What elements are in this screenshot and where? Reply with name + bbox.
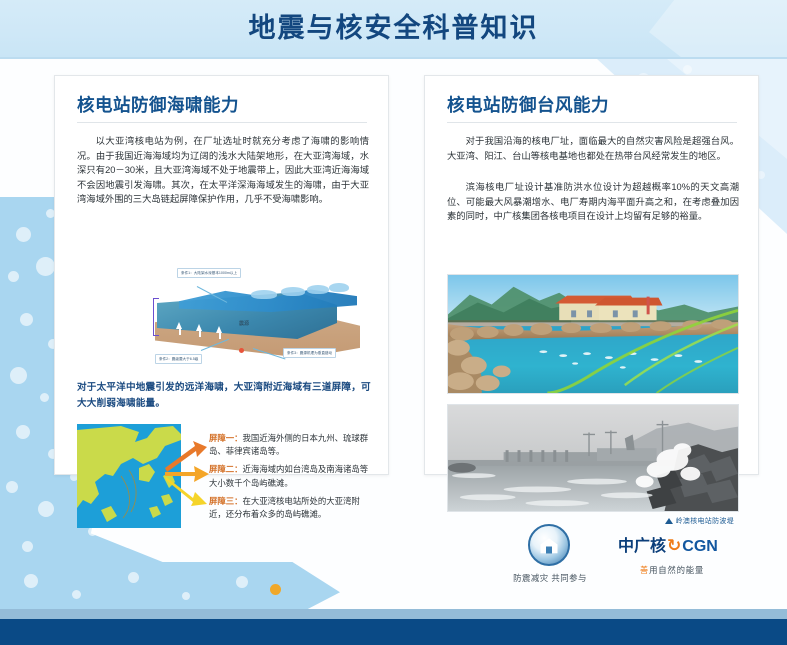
- typhoon-paragraph-1: 对于我国沿海的核电厂址，面临最大的自然灾害风险是超强台风。大亚湾、阳江、台山等核…: [447, 134, 739, 163]
- depth-bracket-icon: [153, 298, 159, 336]
- barrier-item-1: 屏障一：我国近海外侧的日本九州、琉球群岛、菲律宾诸岛等。: [209, 432, 373, 458]
- diagram-label-epicenter: 震源: [239, 320, 249, 327]
- card-tsunami-defense: 核电站防御海啸能力 以大亚湾核电站为例，在厂址选址时就充分考虑了海啸的影响情况。…: [54, 75, 389, 475]
- footer-bar: [0, 619, 787, 645]
- card-title-divider: [77, 122, 367, 123]
- epicenter-marker-icon: [239, 348, 244, 353]
- diagram-label-magnitude: 条件2：震级要大于6.5级: [155, 354, 202, 364]
- poster-canvas: 地震与核安全科普知识: [0, 0, 787, 645]
- page-title: 地震与核安全科普知识: [0, 0, 787, 57]
- cgn-swirl-icon: ↻: [667, 536, 681, 556]
- cgn-logo-cn: 中广核: [618, 538, 666, 555]
- cgn-slogan-rest: 用自然的能量: [649, 565, 704, 575]
- footer-accent-strip: [0, 609, 787, 619]
- logo-row: 防震减灾 共同参与 中广核↻CGN 善用自然的能量: [500, 524, 740, 586]
- photo-wave-impact: [447, 404, 739, 512]
- cgn-slogan: 善用自然的能量: [612, 564, 732, 576]
- cgn-slogan-highlight: 善: [640, 565, 649, 575]
- header-divider: [0, 57, 787, 59]
- barrier-1-key: 屏障一：: [209, 433, 243, 443]
- barrier-map-block: 屏障一：我国近海外侧的日本九州、琉球群岛、菲律宾诸岛等。 屏障二：近海海域内如台…: [77, 424, 373, 536]
- orange-accent-dot: [270, 584, 281, 595]
- diagram-label-mechanism: 条件3：震源机理为垂直错动: [283, 348, 336, 358]
- barrier-item-3: 屏障三：在大亚湾核电站所处的大亚湾附近，还分布着众多的岛屿礁滩。: [209, 495, 373, 521]
- photo-coastal-breakwater: [447, 274, 739, 394]
- card-typhoon-defense: 核电站防御台风能力 对于我国沿海的核电厂址，面临最大的自然灾害风险是超强台风。大…: [424, 75, 759, 475]
- card-title-divider-right: [447, 122, 737, 123]
- tsunami-diagram: 条件1：大陆架水深基本1000m以上 条件2：震级要大于6.5级 条件3：震源机…: [77, 264, 369, 374]
- typhoon-paragraph-2: 滨海核电厂址设计基准防洪水位设计为超越概率10%的天文高潮位、可能最大风暴潮增水…: [447, 180, 739, 224]
- barrier-item-2: 屏障二：近海海域内如台湾岛及南海诸岛等大小数千个岛屿礁滩。: [209, 463, 373, 489]
- card-title-tsunami: 核电站防御海啸能力: [77, 92, 239, 117]
- page-header: 地震与核安全科普知识: [0, 0, 787, 57]
- seal-emblem-icon: [528, 524, 570, 566]
- tsunami-paragraph: 以大亚湾核电站为例，在厂址选址时就充分考虑了海啸的影响情况。由于我国近海海域均为…: [77, 134, 369, 207]
- barrier-list: 屏障一：我国近海外侧的日本九州、琉球群岛、菲律宾诸岛等。 屏障二：近海海域内如台…: [209, 432, 373, 526]
- card-title-typhoon: 核电站防御台风能力: [447, 92, 609, 117]
- barrier-3-key: 屏障三：: [209, 496, 243, 506]
- barrier-2-key: 屏障二：: [209, 464, 243, 474]
- cgn-logo: 中广核↻CGN: [618, 532, 718, 556]
- tsunami-bold-note: 对于太平洋中地震引发的远洋海啸，大亚湾附近海域有三道屏障，可大大削弱海啸能量。: [77, 380, 373, 412]
- diagram-label-depth: 条件1：大陆架水深基本1000m以上: [177, 268, 241, 278]
- cgn-logo-en: CGN: [682, 538, 718, 555]
- seal-slogan: 防震减灾 共同参与: [500, 572, 600, 584]
